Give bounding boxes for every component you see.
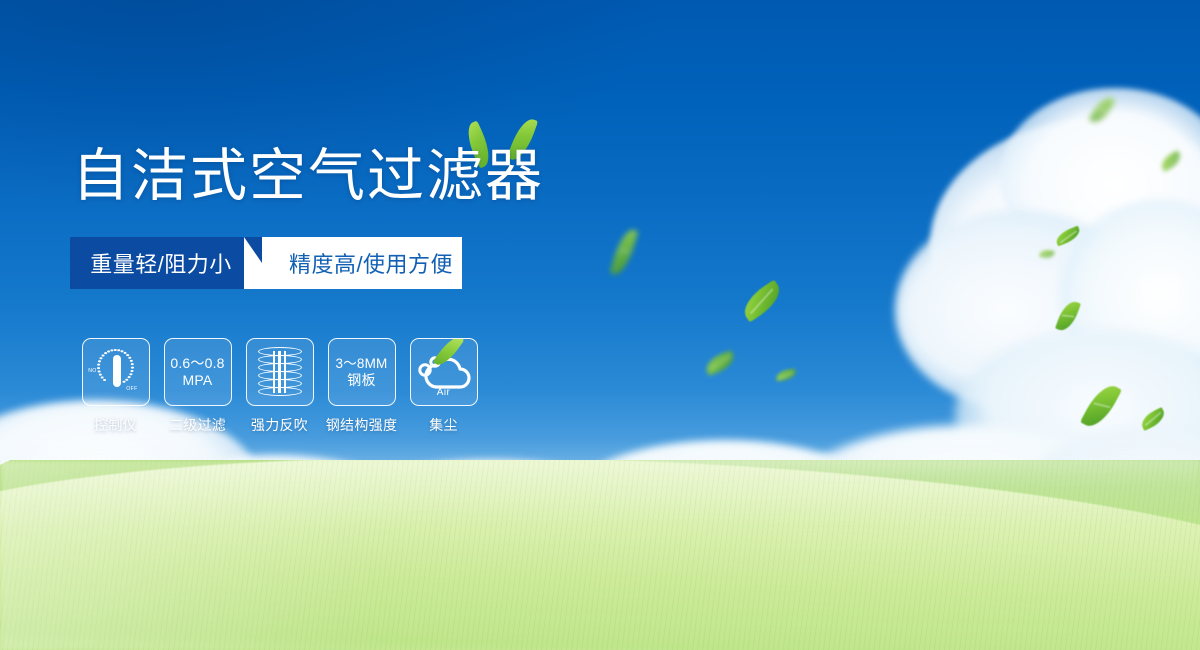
dial-dot <box>100 357 103 360</box>
feature-icon-box: Air <box>410 338 478 406</box>
dial-dot <box>111 349 114 352</box>
subtitle-segment-left: 重量轻/阻力小 <box>70 237 262 289</box>
feature-item-two-stage-filter[interactable]: 0.6～0.8 MPA 二级过滤 <box>160 338 235 435</box>
subtitle-left-text: 重量轻/阻力小 <box>90 247 232 279</box>
dial-dot <box>128 376 131 379</box>
dial-dot <box>103 379 106 382</box>
feature-label: 集尘 <box>429 415 458 435</box>
dial-switch-bar <box>113 355 121 387</box>
dial-dot <box>125 378 128 381</box>
grass-field <box>0 460 1200 650</box>
dial-dot <box>131 363 134 366</box>
subtitle-segment-right: 精度高/使用方便 <box>262 237 462 289</box>
feature-item-controller[interactable]: NO OFF 控制仪 <box>78 338 153 435</box>
dial-dot <box>97 363 100 366</box>
dial-off-label: OFF <box>126 386 137 392</box>
subtitle-bar: 重量轻/阻力小 精度高/使用方便 <box>70 237 462 289</box>
dial-dot <box>131 370 134 373</box>
feature-icon-box: 3～8MM 钢板 <box>328 338 396 406</box>
dial-dot <box>117 349 120 352</box>
dial-dot <box>98 360 101 363</box>
dial-dot <box>99 373 102 376</box>
feature-label: 强力反吹 <box>251 415 308 435</box>
control-dial-icon: NO OFF <box>88 346 144 398</box>
feature-list: NO OFF 控制仪 0.6～0.8 MPA 二级过滤 <box>78 338 481 435</box>
dial-dot <box>97 367 100 370</box>
air-label: Air <box>416 387 472 398</box>
pressure-value-line1: 0.6～0.8 <box>170 355 224 372</box>
dial-dot <box>107 350 110 353</box>
dial-on-label: NO <box>88 368 96 374</box>
dial-dot <box>101 376 104 379</box>
steel-value-line1: 3～8MM <box>335 355 387 372</box>
grass-sheen <box>0 460 1200 650</box>
feature-item-steel-strength[interactable]: 3～8MM 钢板 钢结构强度 <box>324 338 399 435</box>
dial-dot <box>130 360 133 363</box>
dial-dot <box>114 349 117 352</box>
dial-dot <box>98 370 101 373</box>
feature-icon-box <box>246 338 314 406</box>
subtitle-right-text: 精度高/使用方便 <box>289 247 453 279</box>
feature-label: 钢结构强度 <box>326 415 398 435</box>
filter-coil-icon <box>258 347 302 397</box>
page-title: 自洁式空气过滤器 <box>72 148 544 205</box>
pressure-value-line2: MPA <box>183 372 213 389</box>
feature-icon-box: NO OFF <box>82 338 150 406</box>
air-cloud-icon: Air <box>416 349 472 395</box>
dial-dot <box>102 354 105 357</box>
feature-icon-box: 0.6～0.8 MPA <box>164 338 232 406</box>
feature-item-back-blow[interactable]: 强力反吹 <box>242 338 317 435</box>
feature-label: 二级过滤 <box>169 415 226 435</box>
coil-ring <box>258 387 302 396</box>
dial-dot <box>131 366 134 369</box>
feature-item-dust-collection[interactable]: Air 集尘 <box>406 338 481 435</box>
steel-value-line2: 钢板 <box>347 372 375 389</box>
feature-label: 控制仪 <box>94 415 137 435</box>
dial-dot <box>123 380 126 383</box>
product-hero-banner: 自洁式空气过滤器 重量轻/阻力小 精度高/使用方便 NO OFF 控制仪 <box>0 0 1200 650</box>
